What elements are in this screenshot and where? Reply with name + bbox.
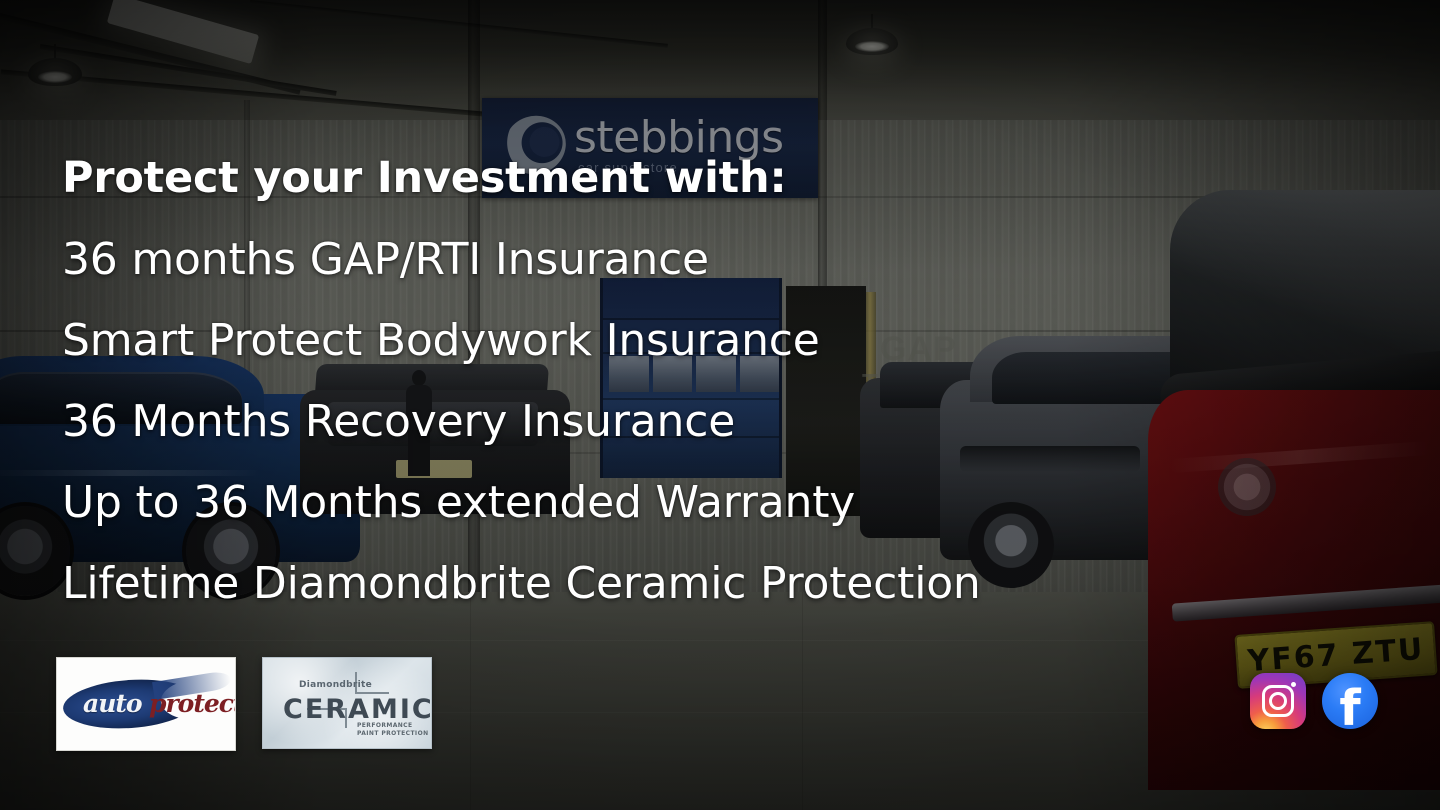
ceramic-title: CERAMIC — [283, 694, 432, 725]
license-plate-text: YF67 ZTU — [1246, 631, 1425, 678]
floor-joint — [802, 592, 803, 810]
benefit-line-1: 36 months GAP/RTI Insurance — [62, 219, 981, 300]
facebook-icon[interactable]: f — [1322, 673, 1378, 729]
ceramic-brand-name: Diamondbrite — [299, 680, 372, 690]
ceramic-tagline: PERFORMANCE PAINT PROTECTION — [357, 722, 429, 738]
facebook-glyph: f — [1322, 684, 1378, 729]
diamondbrite-ceramic-logo: Diamondbrite CERAMIC PERFORMANCE PAINT P… — [262, 657, 432, 749]
benefit-line-3: 36 Months Recovery Insurance — [62, 381, 981, 462]
promo-banner: stebbings car superstore GAP TO — [0, 0, 1440, 810]
offer-copy-block: Protect your Investment with: 36 months … — [62, 138, 981, 624]
social-links: f — [1250, 673, 1378, 729]
instagram-lens-icon — [1269, 692, 1287, 710]
dome-light-fixture — [846, 28, 898, 55]
dome-light-fixture — [28, 58, 82, 86]
car-badge-icon — [1218, 458, 1276, 516]
headline: Protect your Investment with: — [62, 138, 981, 219]
instagram-icon[interactable] — [1250, 673, 1306, 729]
instagram-dot-icon — [1291, 682, 1296, 687]
ceramic-tagline-line-1: PERFORMANCE — [357, 722, 429, 730]
benefit-line-2: Smart Protect Bodywork Insurance — [62, 300, 981, 381]
partner-logos: auto protect Diamondbrite CERAMIC PERFOR… — [56, 657, 432, 751]
ceramic-tagline-line-2: PAINT PROTECTION — [357, 730, 429, 738]
autoprotect-word-protect: protect — [149, 689, 236, 718]
benefit-line-4: Up to 36 Months extended Warranty — [62, 462, 981, 543]
autoprotect-logo: auto protect — [56, 657, 236, 751]
floor-joint — [470, 592, 471, 810]
autoprotect-word-auto: auto — [83, 689, 142, 718]
benefit-line-5: Lifetime Diamondbrite Ceramic Protection — [62, 543, 981, 624]
